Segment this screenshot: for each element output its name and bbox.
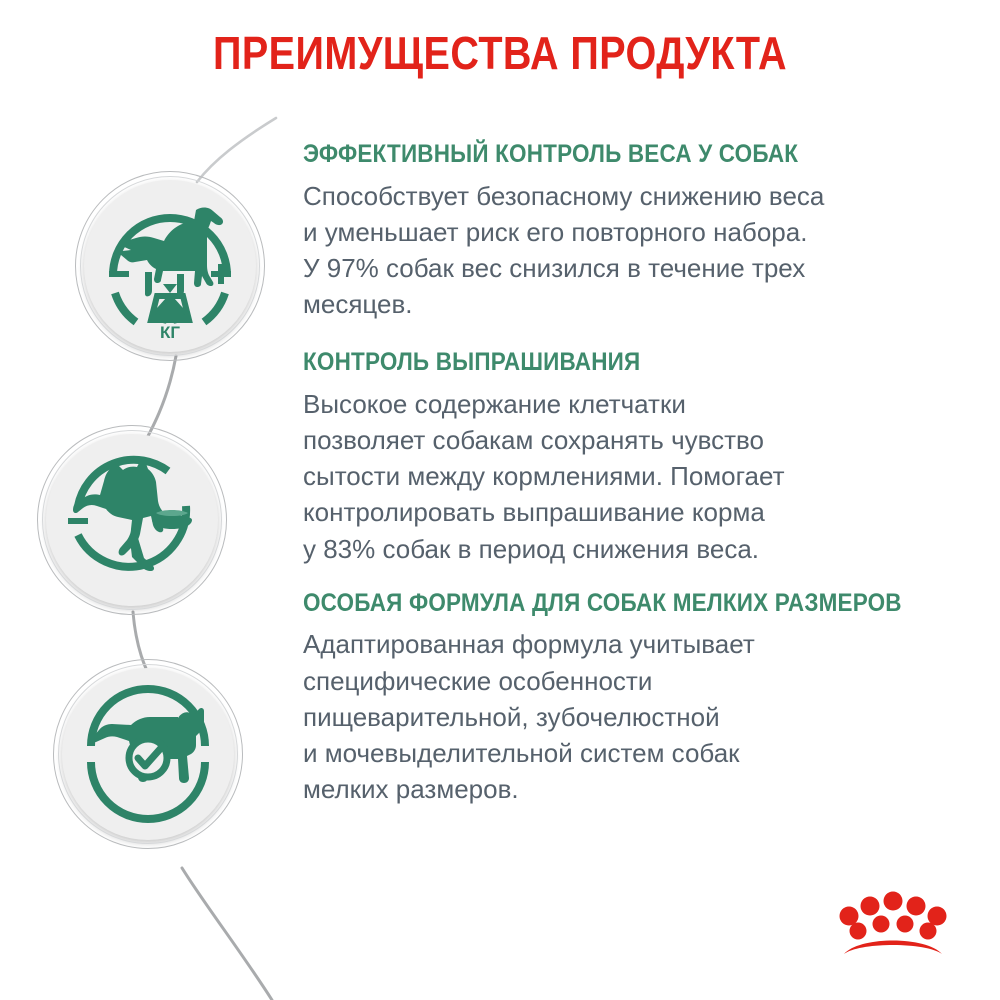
benefit-icon-1-badge: КГ — [84, 180, 256, 352]
benefit-body-1: Способствует безопасному снижению веса и… — [303, 178, 963, 323]
badge-face — [46, 434, 218, 606]
benefit-body-3: Адаптированная формула учитывает специфи… — [303, 626, 963, 807]
benefit-body-2: Высокое содержание клетчатки позволяет с… — [303, 386, 963, 567]
minus-sign — [68, 518, 88, 524]
minus-sign — [109, 271, 129, 277]
gauge-pointer — [163, 284, 177, 293]
benefit-icon-column: КГ — [0, 0, 300, 1000]
begging-dog-with-bowl-icon — [46, 434, 218, 606]
scale-center-bar — [167, 298, 173, 320]
product-benefits-page: ПРЕИМУЩЕСТВА ПРОДУКТА — [0, 0, 1000, 1000]
royal-canin-crown-logo — [838, 884, 948, 962]
benefit-heading-3: ОСОБАЯ ФОРМУЛА ДЛЯ СОБАК МЕЛКИХ РАЗМЕРОВ — [303, 589, 897, 618]
benefit-icon-3-badge — [62, 668, 234, 840]
benefit-section-2: КОНТРОЛЬ ВЫПРАШИВАНИЯ Высокое содержание… — [303, 348, 963, 566]
badge-face: КГ — [84, 180, 256, 352]
benefit-heading-2: КОНТРОЛЬ ВЫПРАШИВАНИЯ — [303, 348, 897, 377]
dog-on-weight-scale-icon: КГ — [84, 180, 256, 352]
kg-label: КГ — [160, 323, 180, 342]
check-badge — [129, 739, 167, 777]
food-bowl — [152, 510, 192, 529]
benefit-section-1: ЭФФЕКТИВНЫЙ КОНТРОЛЬ ВЕСА У СОБАК Способ… — [303, 140, 963, 322]
badge-face — [62, 668, 234, 840]
benefit-section-3: ОСОБАЯ ФОРМУЛА ДЛЯ СОБАК МЕЛКИХ РАЗМЕРОВ… — [303, 589, 963, 807]
small-dog-checkmark-icon — [62, 668, 234, 840]
benefits-content: ЭФФЕКТИВНЫЙ КОНТРОЛЬ ВЕСА У СОБАК Способ… — [303, 140, 963, 825]
benefit-heading-1: ЭФФЕКТИВНЫЙ КОНТРОЛЬ ВЕСА У СОБАК — [303, 140, 897, 169]
benefit-icon-2-badge — [46, 434, 218, 606]
